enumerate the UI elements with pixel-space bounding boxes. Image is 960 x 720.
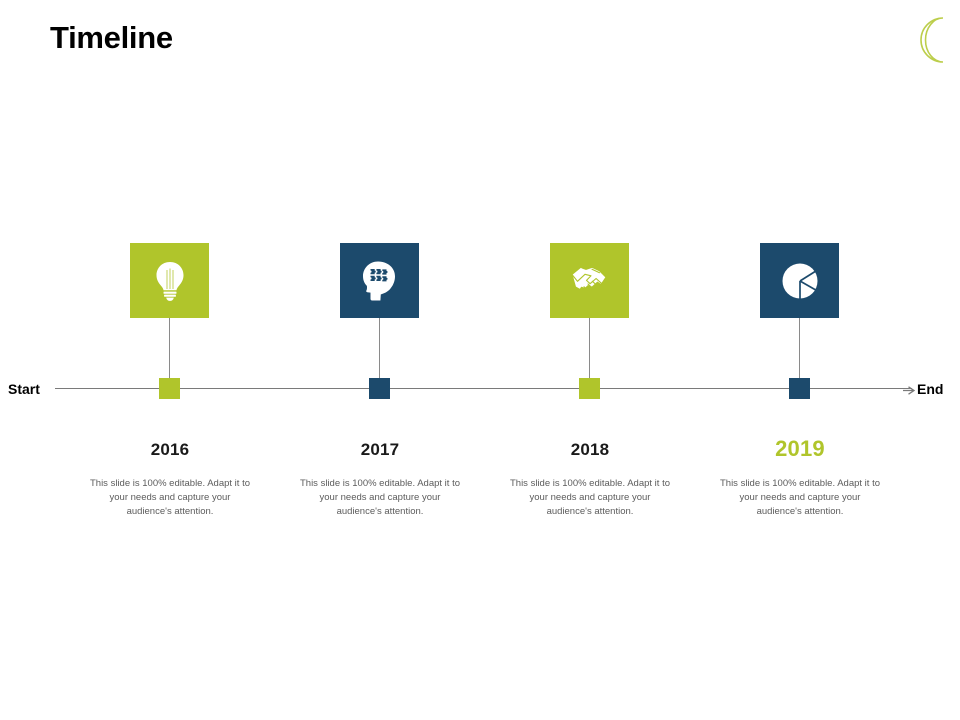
milestone-description: This slide is 100% editable. Adapt it to… — [717, 477, 883, 519]
axis-start-label: Start — [8, 381, 40, 397]
milestone-node[interactable] — [369, 378, 390, 399]
milestone-2019[interactable]: 2019 This slide is 100% editable. Adapt … — [695, 0, 905, 720]
milestone-year: 2019 — [695, 436, 905, 462]
milestone-2016[interactable]: 2016 This slide is 100% editable. Adapt … — [65, 0, 275, 720]
milestone-node[interactable] — [579, 378, 600, 399]
milestone-year: 2018 — [485, 440, 695, 460]
milestone-year: 2017 — [275, 440, 485, 460]
milestone-2018[interactable]: 2018 This slide is 100% editable. Adapt … — [485, 0, 695, 720]
head-puzzle-icon — [340, 243, 419, 318]
pie-chart-icon — [760, 243, 839, 318]
lightbulb-icon — [130, 243, 209, 318]
milestone-connector — [169, 318, 170, 378]
milestone-connector — [799, 318, 800, 378]
crescent-decoration-icon — [903, 12, 955, 68]
timeline-slide: Timeline Start End — [0, 0, 960, 720]
milestone-year: 2016 — [65, 440, 275, 460]
milestone-connector — [589, 318, 590, 378]
handshake-icon — [550, 243, 629, 318]
milestone-description: This slide is 100% editable. Adapt it to… — [297, 477, 463, 519]
milestone-node[interactable] — [159, 378, 180, 399]
milestone-description: This slide is 100% editable. Adapt it to… — [507, 477, 673, 519]
milestone-2017[interactable]: 2017 This slide is 100% editable. Adapt … — [275, 0, 485, 720]
axis-end-label: End — [917, 381, 943, 397]
milestone-description: This slide is 100% editable. Adapt it to… — [87, 477, 253, 519]
milestone-connector — [379, 318, 380, 378]
milestone-node[interactable] — [789, 378, 810, 399]
